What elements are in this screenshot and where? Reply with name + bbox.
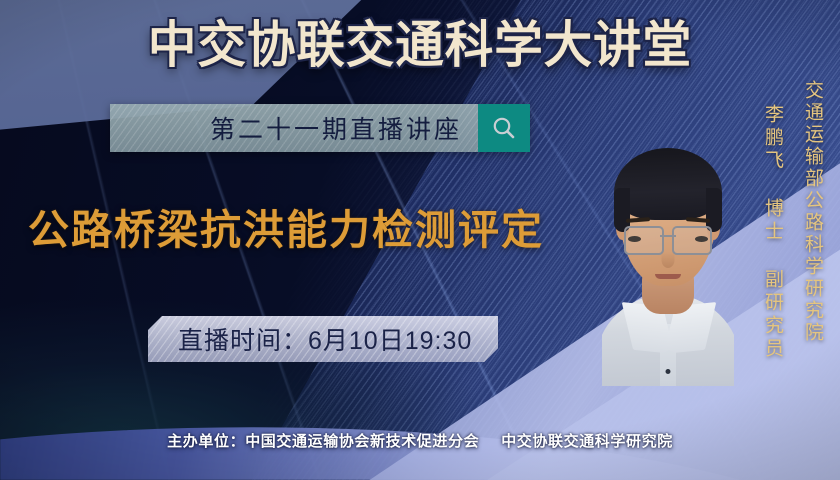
- portrait-glasses: [621, 226, 715, 252]
- portrait-mouth: [655, 274, 681, 279]
- search-icon: [491, 115, 517, 141]
- topic-title: 公路桥梁抗洪能力检测评定: [28, 202, 544, 258]
- portrait-shirt-button: [666, 369, 671, 374]
- main-title: 中交协联交通科学大讲堂: [13, 16, 828, 74]
- speaker-portrait: [602, 134, 734, 386]
- portrait-nose: [662, 252, 675, 268]
- portrait-glasses-bridge: [660, 235, 676, 237]
- livestream-time-badge: 直播时间：6月10日19:30: [148, 316, 498, 362]
- livestream-poster: 中交协联交通科学大讲堂 第二十一期直播讲座 公路桥梁抗洪能力检测评定 直播时间：…: [0, 0, 840, 480]
- footer-organizers: 主办单位：中国交通运输协会新技术促进分会中交协联交通科学研究院: [0, 430, 840, 451]
- portrait-lens-right: [672, 226, 712, 255]
- footer-organizer-prefix: 主办单位：: [167, 433, 245, 450]
- livestream-time-text: 直播时间：6月10日19:30: [178, 321, 472, 357]
- search-button[interactable]: [478, 104, 530, 152]
- episode-bar: 第二十一期直播讲座: [110, 104, 530, 152]
- speaker-organization: 交通运输部公路科学研究院: [799, 80, 826, 344]
- footer-organizer-2: 中交协联交通科学研究院: [501, 433, 673, 450]
- footer-organizer-1: 中国交通运输协会新技术促进分会: [245, 433, 479, 450]
- speaker-name-title: 李鹏飞 博士 副研究员: [759, 104, 786, 361]
- portrait-hair: [614, 148, 722, 220]
- episode-label: 第二十一期直播讲座: [110, 104, 478, 152]
- portrait-lens-left: [624, 226, 664, 255]
